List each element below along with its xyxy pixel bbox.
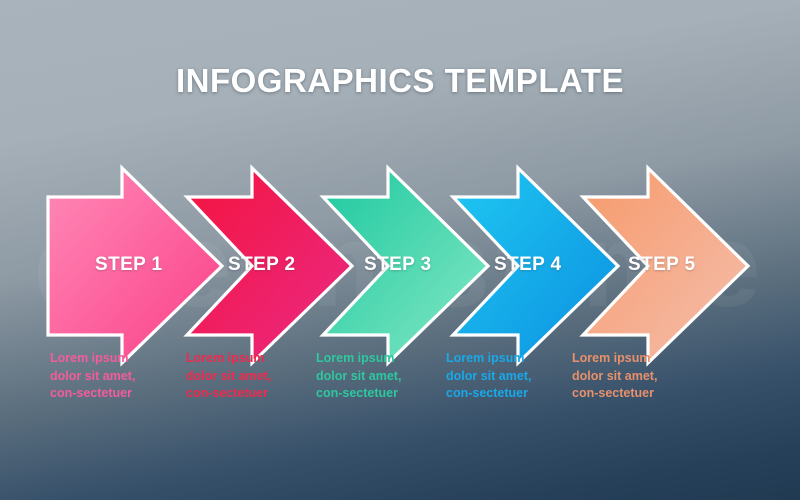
caption-step-3: Lorem ipsum dolor sit amet, con-sectetue…	[316, 350, 402, 403]
step-label-3: STEP 3	[364, 254, 432, 276]
caption-step-2: Lorem ipsum dolor sit amet, con-sectetue…	[186, 350, 272, 403]
caption-step-5: Lorem ipsum dolor sit amet, con-sectetue…	[572, 350, 658, 403]
caption-step-4: Lorem ipsum dolor sit amet, con-sectetue…	[446, 350, 532, 403]
step-label-5: STEP 5	[628, 254, 696, 276]
arrow-chevron-group	[0, 0, 800, 500]
step-label-2: STEP 2	[228, 254, 296, 276]
infographic-canvas: dreamstime INFOGRAPHICS TEMPLATE	[0, 0, 800, 500]
step-label-1: STEP 1	[95, 254, 163, 276]
caption-step-1: Lorem ipsum dolor sit amet, con-sectetue…	[50, 350, 136, 403]
step-label-4: STEP 4	[494, 254, 562, 276]
